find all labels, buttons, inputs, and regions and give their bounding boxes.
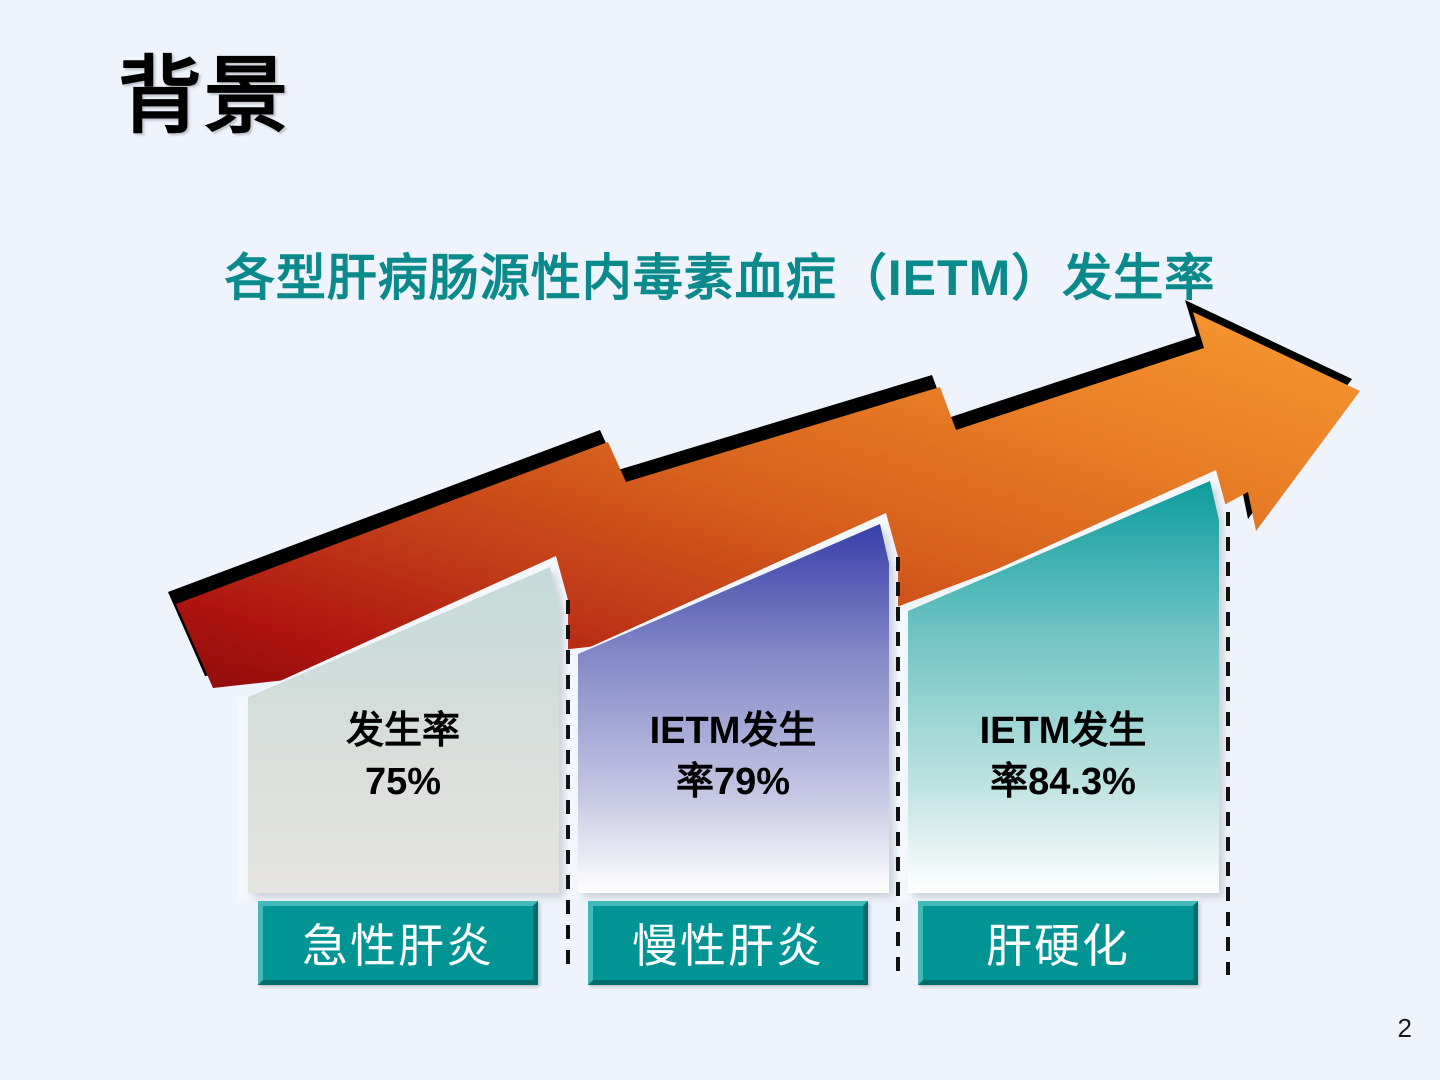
category-button-chronic-hepatitis[interactable]: 慢性肝炎 xyxy=(588,901,868,985)
category-button-acute-hepatitis[interactable]: 急性肝炎 xyxy=(258,901,538,985)
category-button-cirrhosis[interactable]: 肝硬化 xyxy=(918,901,1198,985)
slide: 背景 各型肝病肠源性内毒素血症（IETM）发生率 xyxy=(0,0,1440,1080)
page-number: 2 xyxy=(1398,1013,1412,1044)
